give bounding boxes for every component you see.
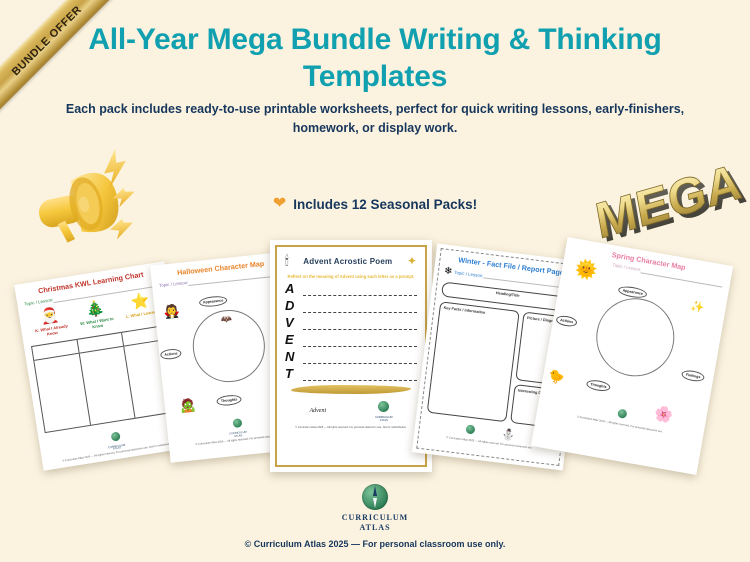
bubble-appearance[interactable]: Appearance: [198, 295, 227, 308]
curriculum-atlas-logo: [378, 401, 389, 412]
curriculum-atlas-logo: [617, 408, 627, 418]
blossom-tree-icon: 🌸: [653, 406, 674, 424]
advent-gold-frame: 🕯 Advent Acrostic Poem ✦ Reflect on the …: [275, 245, 427, 467]
acrostic-line[interactable]: [303, 336, 417, 347]
acrostic-line[interactable]: [303, 319, 417, 330]
brand-line-2: ATLAS: [359, 523, 390, 532]
ribbon-band: BUNDLE OFFER: [0, 0, 125, 119]
curriculum-atlas-logo: [362, 484, 388, 510]
bubble-thoughts[interactable]: Thoughts: [216, 394, 241, 406]
center-circle[interactable]: [189, 307, 268, 386]
acrostic-letter: V: [285, 315, 301, 330]
bubble-actions[interactable]: Actions: [555, 314, 578, 328]
curriculum-atlas-logo: [466, 424, 476, 434]
bubble-appearance[interactable]: Appearance: [618, 285, 648, 300]
acrostic-letter: N: [285, 349, 301, 364]
kwl-column-know: 🎅 K: What I Already Know: [27, 305, 75, 339]
compass-needle-south-icon: [373, 498, 377, 508]
advent-wreath-icon: 🕯: [285, 253, 289, 269]
brand-line-1: CURRICULUM: [342, 513, 408, 522]
worksheet-title: Advent Acrostic Poem: [303, 257, 392, 266]
acrostic-line[interactable]: [303, 370, 417, 381]
sun-icon: 🌞: [574, 259, 599, 281]
worksheet-spring-character-map[interactable]: Spring Character Map Topic / Lesson: 🌞 ✨…: [531, 237, 733, 475]
zombie-icon: 🧟: [179, 398, 196, 413]
copyright-footer: © Curriculum Atlas 2025 — For personal c…: [0, 539, 750, 549]
acrostic-line[interactable]: [303, 285, 417, 296]
brand-name: CURRICULUM ATLAS: [342, 513, 408, 533]
center-circle[interactable]: [590, 292, 680, 382]
acrostic-line[interactable]: [303, 353, 417, 364]
acrostic-letter: A: [285, 281, 301, 296]
advent-instruction: Reflect on the meaning of Advent using e…: [285, 274, 417, 279]
topic-label: Topic / Lesson:: [159, 280, 189, 288]
worksheet-advent-acrostic[interactable]: 🕯 Advent Acrostic Poem ✦ Reflect on the …: [270, 240, 432, 472]
seasonal-packs-badge: ❤ Includes 12 Seasonal Packs!: [0, 196, 750, 212]
sheet-footer: © Curriculum Atlas 2025 — All rights res…: [285, 426, 417, 429]
character-map-diagram: 🌞 ✨ 🐤 🌸 Appearance Actions Feelings Thou…: [548, 264, 722, 417]
gold-squiggle-divider: [291, 385, 411, 394]
snowman-icon: ⛄: [501, 429, 516, 443]
bubble-actions[interactable]: Actions: [160, 348, 182, 360]
vampire-icon: 🧛: [163, 304, 180, 319]
gold-star-icon: ✦: [407, 254, 417, 268]
bubble-feelings[interactable]: Feelings: [681, 369, 705, 383]
bundle-offer-ribbon: BUNDLE OFFER: [0, 0, 130, 130]
page-subtitle: Each pack includes ready-to-use printabl…: [55, 100, 695, 138]
acrostic-letter: D: [285, 298, 301, 313]
confetti-icon: ✨: [690, 301, 705, 314]
curriculum-atlas-brand: CURRICULUM ATLAS: [0, 484, 750, 533]
page-title: All-Year Mega Bundle Writing & Thinking …: [40, 22, 710, 95]
topic-label: Topic / Lesson:: [454, 270, 484, 279]
topic-label: Topic / Lesson:: [24, 297, 54, 307]
bubble-thoughts[interactable]: Thoughts: [586, 379, 612, 393]
acrostic-letter: E: [285, 332, 301, 347]
orange-heart-icon: ❤: [273, 196, 286, 212]
compass-needle-north-icon: [373, 486, 377, 496]
seasonal-packs-label: Includes 12 Seasonal Packs!: [293, 197, 477, 212]
worksheet-preview-fan: Christmas KWL Learning Chart Topic / Les…: [0, 232, 750, 482]
advent-script-mark: Advent: [309, 408, 326, 414]
kwl-column-want: 🎄 W: What I Want to Know: [72, 298, 120, 332]
acrostic-letter: T: [285, 366, 301, 381]
duckling-icon: 🐤: [547, 369, 565, 385]
ribbon-label: BUNDLE OFFER: [10, 4, 85, 79]
box-key-facts[interactable]: Key Facts / Information: [427, 301, 520, 422]
curriculum-atlas-logo: [110, 431, 120, 441]
acrostic-line[interactable]: [303, 302, 417, 313]
curriculum-atlas-logo: [232, 418, 242, 428]
logo-caption: CURRICULUMATLAS: [375, 417, 392, 423]
snowflake-icon: ❄: [443, 266, 453, 278]
